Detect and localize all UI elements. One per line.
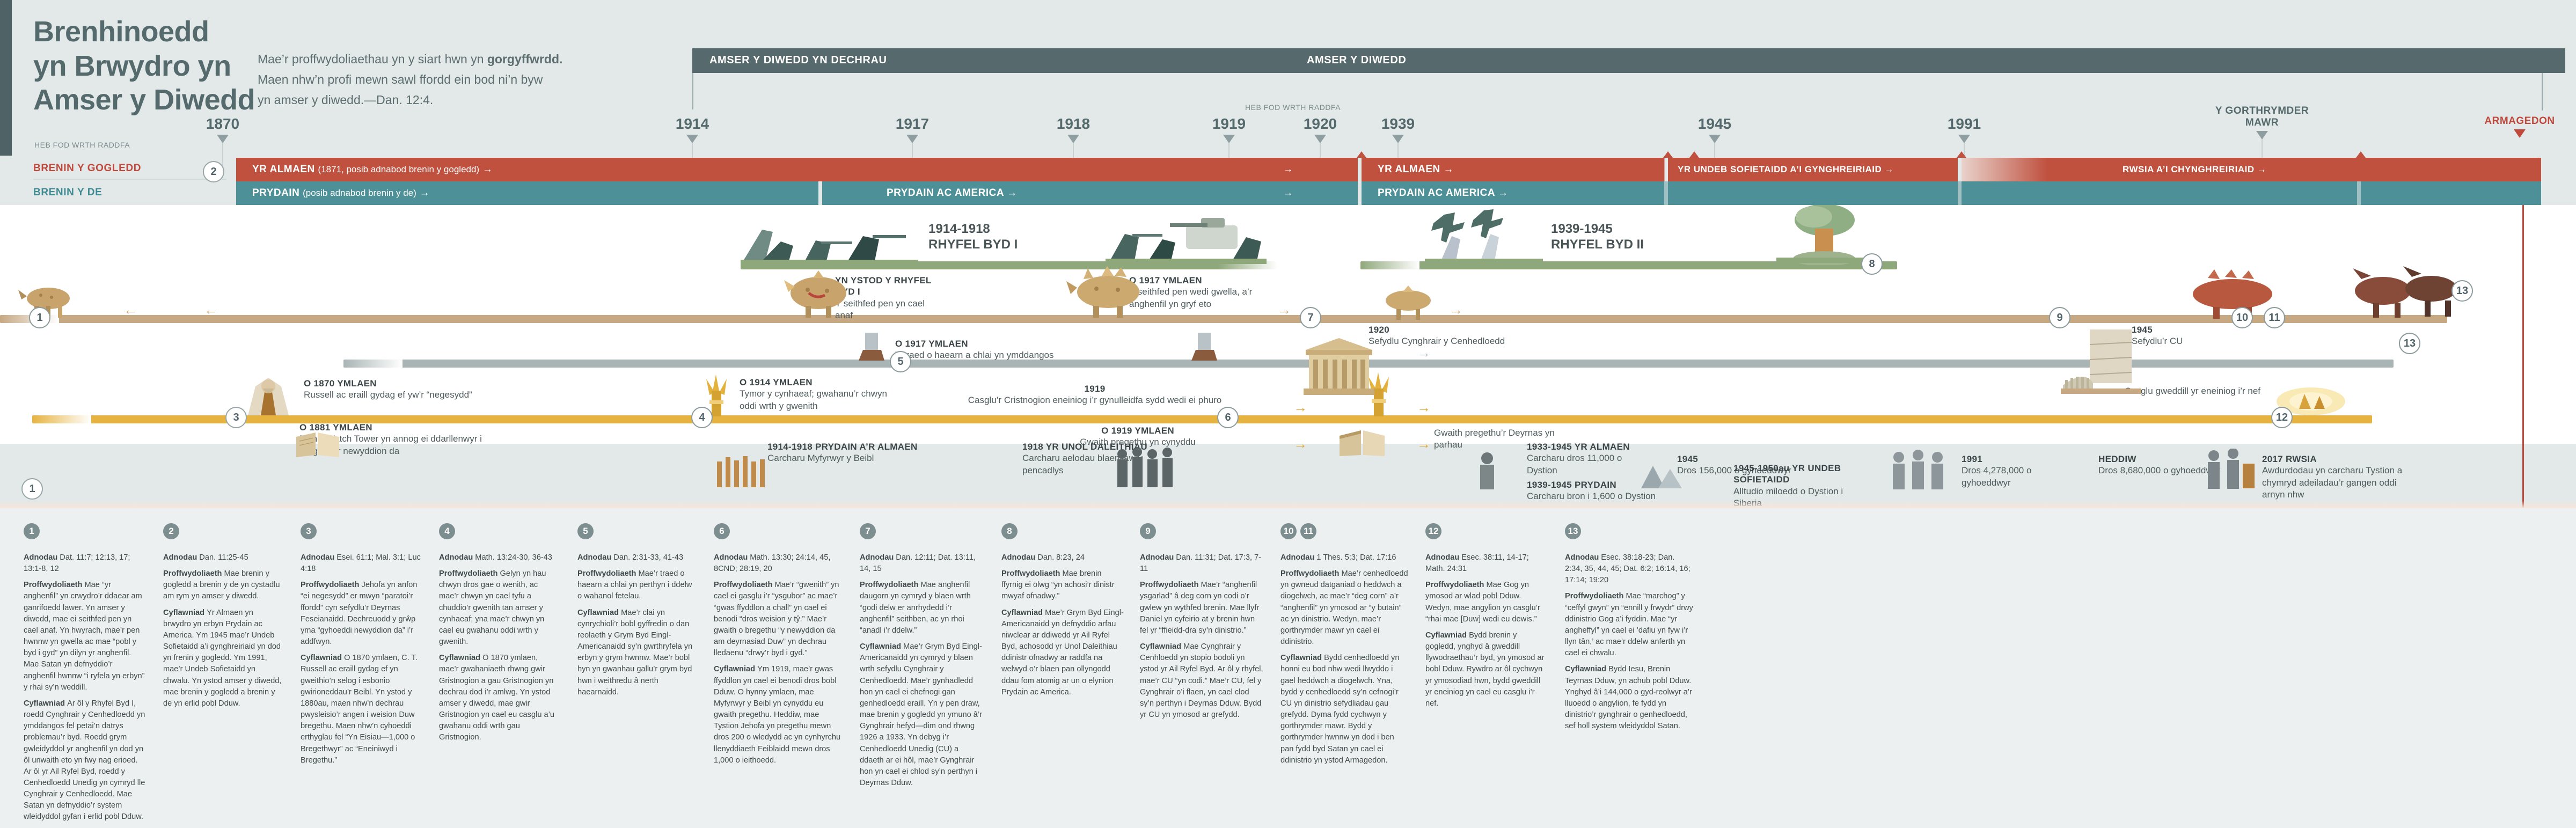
- prisoners-illustration-1: [714, 450, 773, 488]
- north-seg2-arrow: →: [1283, 164, 1294, 175]
- scale-note-left: HEB FOD WRTH RADDFA: [34, 141, 130, 149]
- note-badges: 7: [860, 523, 983, 546]
- note-badges: 6: [714, 523, 841, 546]
- note-paragraph-label: Proffwydoliaeth: [577, 569, 639, 578]
- note-badges: 4: [439, 523, 558, 546]
- note-badge[interactable]: 8: [1001, 523, 1018, 539]
- note-paragraph-label: Proffwydoliaeth: [24, 581, 85, 589]
- note-paragraph-label: Adnodau: [24, 553, 60, 562]
- feet-of-iron-clay-icon-1: [853, 333, 891, 364]
- note-paragraph-label: Proffwydoliaeth: [1280, 569, 1342, 578]
- north-seg3-text: YR ALMAEN →: [1378, 164, 1454, 175]
- note-paragraph: Proffwydoliaeth Mae anghenfil daugorn yn…: [860, 580, 983, 636]
- note-7: 7Adnodau Dan. 12:11; Dat. 13:11, 14, 15P…: [860, 523, 983, 794]
- watchtower-book-illustration: [294, 430, 341, 458]
- note-badge[interactable]: 2: [163, 523, 179, 539]
- note-badge[interactable]: 3: [301, 523, 317, 539]
- note-paragraph-label: Cyflawniad: [577, 609, 621, 617]
- note-badges: 12: [1425, 523, 1548, 546]
- war-horses-illustration: [2345, 263, 2463, 319]
- note-11: 12Adnodau Esec. 38:11, 14-17; Math. 24:3…: [1425, 523, 1548, 714]
- note-paragraph: Proffwydoliaeth Mae’r “anghenfil ysgarla…: [1140, 580, 1263, 636]
- note-paragraph: Cyflawniad Bydd cenhedloedd yn honni eu …: [1280, 653, 1408, 766]
- note-paragraph: Proffwydoliaeth Mae “marchog” y “ceffyl …: [1565, 591, 1694, 659]
- note-paragraph-label: Cyflawniad: [714, 665, 757, 673]
- notes-panel: 1 1Adnodau Dat. 11:7; 12:13, 17; 13:1-8,…: [0, 508, 2576, 828]
- bottom-event-7: 1991 Dros 4,278,000 o gyhoeddwyr: [1962, 453, 2069, 489]
- note-paragraph-label: Adnodau: [1001, 553, 1037, 562]
- bottom-event-9: 2017 RWSIA Awdurdodau yn carcharu Tystio…: [2262, 453, 2418, 501]
- beast-illustration-mid: [1374, 285, 1438, 320]
- note-paragraph-label: Cyflawniad: [1425, 631, 1469, 640]
- siberia-exile-illustration: [1637, 452, 1686, 489]
- year-tick-great-tribulation: Y GORTHRYMDER MAWR: [2200, 105, 2324, 165]
- atomic-explosion-illustration: [1776, 205, 1873, 265]
- subtitle-part-1: Mae’r proffwydoliaethau yn y siart hwn y…: [258, 52, 487, 66]
- note-badge[interactable]: 10: [1280, 523, 1297, 539]
- note-paragraph: Adnodau Dan. 12:11; Dat. 13:11, 14, 15: [860, 552, 983, 575]
- note-1: 1Adnodau Dat. 11:7; 12:13, 17; 13:1-8, 1…: [24, 523, 146, 828]
- note-paragraph: Cyflawniad Yr Almaen yn brwydro yn erbyn…: [163, 607, 282, 709]
- north-band-segment-4: RWSIA A’I CHYNGHREIRIAID →: [1962, 158, 2541, 181]
- note-paragraph-label: Adnodau: [1425, 553, 1461, 562]
- subtitle-emphasis: gorgyffwrdd.: [487, 52, 563, 66]
- title-line-1: Brenhinoedd: [33, 15, 255, 49]
- south-band-segment-2: PRYDAIN AC AMERICA → →: [822, 181, 1358, 205]
- era-tick-left: [692, 73, 693, 109]
- open-bible-illustration-1: [1337, 428, 1387, 458]
- note-paragraph: Cyflawniad O 1870 ymlaen, C. T. Russell …: [301, 653, 423, 766]
- note-paragraph: Cyflawniad Mae’r Grym Byd Eingl-American…: [1001, 607, 1124, 698]
- note-paragraph: Proffwydoliaeth Mae’r “gwenith” yn cael …: [714, 580, 841, 659]
- marker-6[interactable]: 6: [1217, 407, 1239, 428]
- note-paragraph-label: Adnodau: [439, 553, 475, 562]
- king-south-label: BRENIN Y DE: [33, 187, 102, 199]
- era-band: AMSER Y DIWEDD YN DECHRAU AMSER Y DIWEDD: [692, 48, 2565, 73]
- note-paragraph-label: Proffwydoliaeth: [1140, 581, 1201, 589]
- note-paragraph: Proffwydoliaeth Jehofa yn anfon “ei nege…: [301, 580, 423, 648]
- note-paragraph: Adnodau Esei. 61:1; Mal. 3:1; Luc 4:18: [301, 552, 423, 575]
- note-paragraph-label: Proffwydoliaeth: [1001, 569, 1063, 578]
- note-9: 9Adnodau Dan. 11:31; Dat. 17:3, 7-11Prof…: [1140, 523, 1263, 726]
- note-8: 8Adnodau Dan. 8:23, 24Proffwydoliaeth Ma…: [1001, 523, 1124, 703]
- note-paragraph: Adnodau Math. 13:30; 24:14, 45, 8CND; 28…: [714, 552, 841, 575]
- note-4: 4Adnodau Math. 13:24-30, 36-43Proffwydol…: [439, 523, 558, 749]
- note-paragraph: Adnodau 1 Thes. 5:3; Dat. 17:16: [1280, 552, 1408, 563]
- note-paragraph: Adnodau Math. 13:24-30, 36-43: [439, 552, 558, 563]
- king-label-divider: [33, 179, 226, 180]
- note-badges: 9: [1140, 523, 1263, 546]
- note-paragraph-label: Adnodau: [163, 553, 199, 562]
- marker-1-footer[interactable]: 1: [21, 478, 43, 500]
- subtitle-part-2: Maen nhw’n profi mewn sawl ffordd ein bo…: [258, 70, 562, 90]
- note-badges: 5: [577, 523, 697, 546]
- north-band-segment-1: YR ALMAEN (1871, posib adnabod brenin y …: [236, 158, 1358, 181]
- note-paragraph-label: Adnodau: [1280, 553, 1316, 562]
- event-caption-11: Casglu gweddill yr eneiniog i’r nef: [2121, 385, 2260, 397]
- bottom-event-0: 1914-1918 PRYDAIN A’R ALMAEN Carcharu My…: [767, 441, 934, 465]
- note-badge[interactable]: 4: [439, 523, 455, 539]
- title-line-3: Amser y Diwedd: [33, 83, 255, 118]
- war-1-label: 1914-1918 RHYFEL BYD I: [928, 221, 1018, 253]
- note-paragraph: Adnodau Dan. 2:31-33, 41-43: [577, 552, 697, 563]
- note-badges: 3: [301, 523, 423, 546]
- note-paragraph: Adnodau Dan. 8:23, 24: [1001, 552, 1124, 563]
- rail-wild-beast: [0, 315, 2447, 323]
- armageddon-line: [2522, 205, 2524, 508]
- messenger-russell-illustration: [240, 377, 296, 415]
- note-2: 2Adnodau Dan. 11:25-45Proffwydoliaeth Ma…: [163, 523, 282, 714]
- king-north-label: BRENIN Y GOGLEDD: [33, 163, 141, 174]
- note-paragraph-label: Cyflawniad: [1280, 654, 1324, 662]
- note-paragraph: Cyflawniad Ym 1919, mae’r gwas ffyddlon …: [714, 664, 841, 766]
- note-paragraph: Adnodau Esec. 38:11, 14-17; Math. 24:31: [1425, 552, 1548, 575]
- event-caption-6: O 1917 YMLAEN Y traed o haearn a chlai y…: [895, 338, 1121, 362]
- south-seg1-text: PRYDAIN (posib adnabod brenin y de) →: [252, 187, 430, 199]
- note-paragraph: Cyflawniad Mae’r clai yn cynrychioli’r b…: [577, 607, 697, 698]
- note-paragraph-label: Cyflawniad: [24, 699, 67, 708]
- prisoner-illustration-3: [1465, 452, 1509, 489]
- note-3: 3Adnodau Esei. 61:1; Mal. 3:1; Luc 4:18P…: [301, 523, 423, 771]
- note-paragraph-label: Adnodau: [1565, 553, 1601, 562]
- beast-healed-illustration: [1065, 264, 1151, 318]
- south-seg4-text: PRYDAIN AC AMERICA →: [1378, 187, 1509, 199]
- note-paragraph-label: Cyflawniad: [439, 654, 482, 662]
- marker-5[interactable]: 5: [890, 351, 911, 372]
- note-paragraph: Proffwydoliaeth Mae Gog yn ymosod ar wla…: [1425, 580, 1548, 625]
- note-paragraph-label: Proffwydoliaeth: [1425, 581, 1487, 589]
- war-2-label: 1939-1945 RHYFEL BYD II: [1551, 221, 1644, 253]
- note-badge[interactable]: 1: [24, 523, 40, 539]
- note-badge[interactable]: 11: [1300, 523, 1316, 539]
- note-paragraph: Proffwydoliaeth Mae brenin ffyrnig ei ol…: [1001, 568, 1124, 602]
- feet-of-iron-clay-icon-2: [1186, 333, 1224, 364]
- wwi-soldiers-illustration: [741, 220, 918, 264]
- marker-12[interactable]: 12: [2271, 407, 2293, 428]
- south-seg3-arrow: →: [1283, 187, 1294, 199]
- note-badge[interactable]: 5: [577, 523, 594, 539]
- note-badges: 13: [1565, 523, 1694, 546]
- note-paragraph-label: Adnodau: [577, 553, 613, 562]
- north-seg1-text: YR ALMAEN (1871, posib adnabod brenin y …: [252, 164, 493, 175]
- wwii-bombers-illustration: [1425, 209, 1543, 263]
- note-paragraph: Cyflawniad Mae Cynghrair y Cenh­loedd yn…: [1140, 641, 1263, 721]
- note-6: 6Adnodau Math. 13:30; 24:14, 45, 8CND; 2…: [714, 523, 841, 771]
- title-line-2: yn Brwydro yn: [33, 49, 255, 84]
- event-caption-5: O 1914 YMLAEN Tymor y cynhaeaf; gwahanu’…: [740, 377, 901, 412]
- marker-13-rail[interactable]: 13: [2399, 333, 2420, 354]
- note-paragraph: Proffwydoliaeth Gelyn yn hau chwyn dros …: [439, 568, 558, 648]
- north-band-segment-3: YR UNDEB SOFIETAIDD A’I GYNGHREIRIAID →: [1668, 158, 1958, 181]
- note-paragraph-label: Proffwydoliaeth: [163, 569, 224, 578]
- note-paragraph: Cyflawniad Ar ôl y Rhyfel Byd I, roedd C…: [24, 698, 146, 823]
- note-paragraph-label: Proffwydoliaeth: [1565, 592, 1626, 600]
- north-seg5-text: RWSIA A’I CHYNGHREIRIAID →: [2123, 164, 2266, 175]
- timeline-marker-2[interactable]: 2: [203, 161, 224, 182]
- subtitle: Mae’r proffwydoliaethau yn y siart hwn y…: [258, 49, 562, 111]
- note-badges: 1011: [1280, 523, 1408, 546]
- era-tick-right: [2542, 73, 2543, 111]
- north-band-segment-2: YR ALMAEN →: [1362, 158, 1665, 181]
- note-paragraph: Adnodau Dat. 11:7; 12:13, 17; 13:1-8, 12: [24, 552, 146, 575]
- note-paragraph-label: Proffwydoliaeth: [714, 581, 775, 589]
- note-paragraph-label: Cyflawniad: [163, 609, 207, 617]
- north-seg4-text: YR UNDEB SOFIETAIDD A’I GYNGHREIRIAID →: [1678, 164, 1894, 175]
- note-paragraph-label: Proffwydoliaeth: [301, 581, 362, 589]
- note-12: 13Adnodau Esec. 38:18-23; Dan. 2:34, 35,…: [1565, 523, 1694, 737]
- note-badge[interactable]: 9: [1140, 523, 1156, 539]
- event-caption-2: 1920 Sefydlu Cynghrair y Cenhedloedd: [1368, 324, 1599, 348]
- publishers-group-illustration: [1889, 450, 1948, 489]
- marker-7[interactable]: 7: [1300, 307, 1321, 328]
- wwi-tank-illustration: [1106, 216, 1267, 264]
- event-caption-3: 1945 Sefydlu’r CU: [2132, 324, 2250, 348]
- illustration-canvas: 1914-1918 RHYFEL BYD I 1939-1945: [0, 205, 2576, 444]
- note-badge[interactable]: 6: [714, 523, 730, 539]
- accent-bar: [0, 0, 12, 156]
- note-paragraph: Adnodau Dan. 11:31; Dat. 17:3, 7-11: [1140, 552, 1263, 575]
- note-badges: 8: [1001, 523, 1124, 546]
- note-paragraph-label: Cyflawniad: [1565, 665, 1608, 673]
- marker-13-top[interactable]: 13: [2451, 280, 2473, 302]
- note-paragraph: Cyflawniad Bydd brenin y gogledd, ynghyd…: [1425, 630, 1548, 709]
- year-tick-armageddon: ARMAGEDON: [2469, 115, 2571, 138]
- note-paragraph: Cyflawniad Bydd Iesu, Brenin Teyrnas Ddu…: [1565, 664, 1694, 732]
- note-badge[interactable]: 12: [1425, 523, 1441, 539]
- event-caption-4: O 1870 YMLAEN Russell ac eraill gydag ef…: [304, 378, 540, 401]
- marker-8[interactable]: 8: [1861, 253, 1883, 275]
- note-paragraph: Proffwydoliaeth Mae’r cenhedloedd yn gwn…: [1280, 568, 1408, 648]
- marker-9[interactable]: 9: [2049, 307, 2070, 328]
- era-label-main: AMSER Y DIWEDD: [1307, 54, 1406, 67]
- note-paragraph-label: Adnodau: [301, 553, 336, 562]
- event-caption-7: 1919 Casglu’r Cristnogion eneiniog i’r g…: [907, 383, 1283, 407]
- note-paragraph-label: Adnodau: [1140, 553, 1176, 562]
- note-paragraph-label: Adnodau: [860, 553, 896, 562]
- league-of-nations-building: [1301, 334, 1377, 397]
- south-band-segment-1: PRYDAIN (posib adnabod brenin y de) →: [236, 181, 818, 205]
- bottom-event-2: 1933-1945 YR ALMAEN Carcharu dros 11,000…: [1527, 441, 1642, 477]
- note-paragraph-label: Proffwydoliaeth: [439, 569, 500, 578]
- note-paragraph-label: Cyflawniad: [1140, 642, 1183, 651]
- note-5: 5Adnodau Dan. 2:31-33, 41-43Proffwydolia…: [577, 523, 697, 703]
- russia-ban-illustration: [2203, 449, 2257, 489]
- note-paragraph: Cyflawniad Mae’r Grym Byd Eingl-American…: [860, 641, 983, 789]
- marker-1[interactable]: 1: [29, 307, 50, 328]
- marker-10[interactable]: 10: [2231, 307, 2253, 328]
- south-seg2-text: PRYDAIN AC AMERICA →: [887, 187, 1018, 199]
- beast-wounded-head-illustration: [781, 268, 856, 318]
- note-paragraph: Proffwydoliaeth Mae’r traed o haearn a c…: [577, 568, 697, 602]
- chart-sheet: Brenhinoedd yn Brwydro yn Amser y Diwedd…: [0, 0, 2576, 828]
- subtitle-part-3: yn amser y diwedd.—Dan. 12:4.: [258, 90, 562, 111]
- era-label-start: AMSER Y DIWEDD YN DECHRAU: [709, 54, 887, 67]
- note-paragraph-label: Proffwydoliaeth: [860, 581, 921, 589]
- scale-note-right: HEB FOD WRTH RADDFA: [1245, 103, 1341, 112]
- note-badge[interactable]: 13: [1565, 523, 1581, 539]
- note-paragraph-label: Adnodau: [714, 553, 750, 562]
- page-title: Brenhinoedd yn Brwydro yn Amser y Diwedd: [33, 15, 255, 118]
- note-paragraph-label: Cyflawniad: [301, 654, 344, 662]
- south-band-segment-3: PRYDAIN AC AMERICA →: [1362, 181, 2541, 205]
- note-paragraph: Cyflawniad O 1870 ymlaen, mae’r gwahania…: [439, 653, 558, 743]
- note-badge[interactable]: 7: [860, 523, 876, 539]
- note-paragraph: Proffwydoliaeth Mae brenin y gogledd a b…: [163, 568, 282, 602]
- note-badges: 2: [163, 523, 282, 546]
- note-paragraph: Adnodau Esec. 38:18-23; Dan. 2:34, 35, 4…: [1565, 552, 1694, 586]
- note-10: 1011Adnodau 1 Thes. 5:3; Dat. 17:16Proff…: [1280, 523, 1408, 771]
- note-paragraph: Proffwydoliaeth Mae “yr anghenfil” yn cr…: [24, 580, 146, 693]
- note-paragraph-label: Cyflawniad: [860, 642, 903, 651]
- note-badges: 1: [24, 523, 146, 546]
- marker-11[interactable]: 11: [2264, 307, 2285, 328]
- united-nations-building: [2061, 329, 2141, 397]
- prisoners-illustration-2: [1114, 448, 1183, 489]
- marker-4[interactable]: 4: [691, 407, 713, 428]
- note-paragraph-label: Cyflawniad: [1001, 609, 1045, 617]
- note-paragraph: Adnodau Dan. 11:25-45: [163, 552, 282, 563]
